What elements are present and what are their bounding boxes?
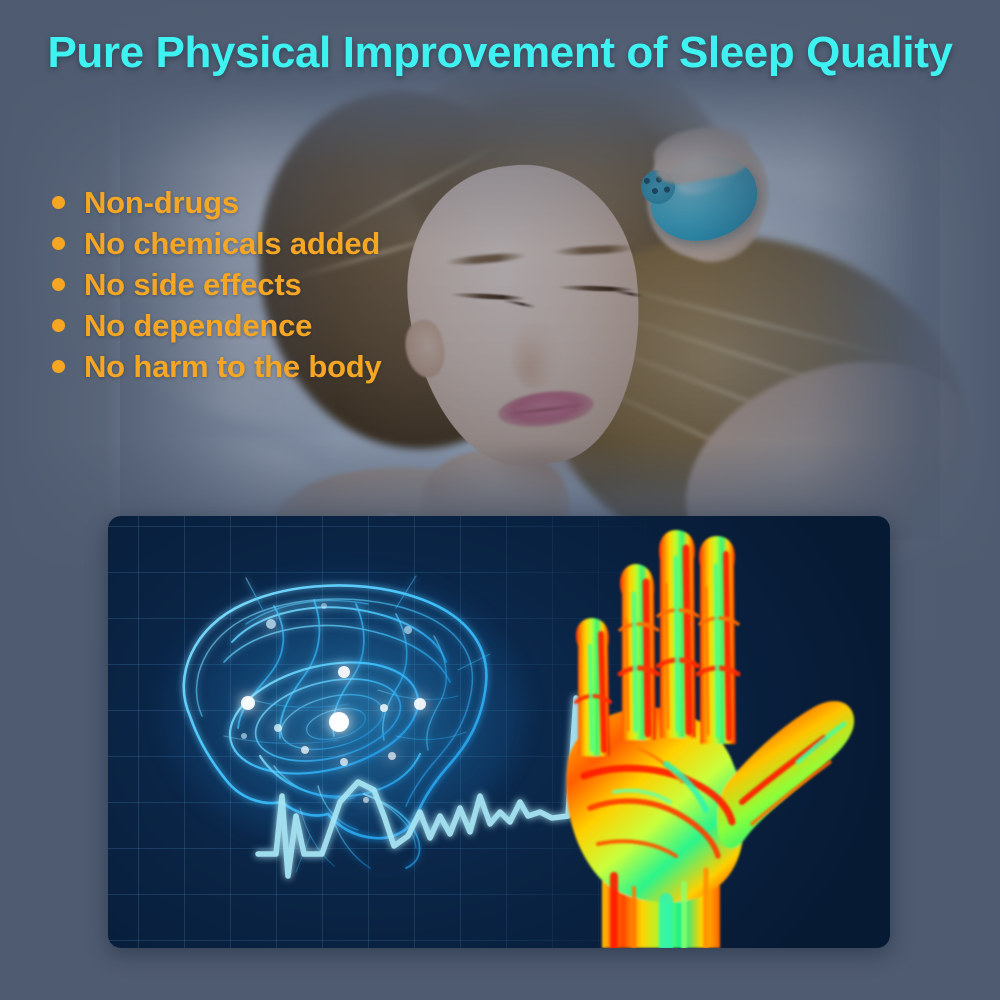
bullet-icon [52,360,65,373]
feature-label: No dependence [84,308,312,344]
list-item: No dependence [52,305,382,346]
feature-list: Non-drugs No chemicals added No side eff… [52,182,382,387]
thermal-hand-illustration [506,524,890,948]
visualization-panel [108,516,890,948]
page-title: Pure Physical Improvement of Sleep Quali… [0,28,1000,78]
feature-label: Non-drugs [84,185,239,221]
list-item: No chemicals added [52,223,382,264]
bullet-icon [52,196,65,209]
feature-label: No side effects [84,267,302,303]
feature-label: No chemicals added [84,226,380,262]
list-item: Non-drugs [52,182,382,223]
bullet-icon [52,319,65,332]
poster-canvas: Pure Physical Improvement of Sleep Quali… [0,0,1000,1000]
thermal-hand-icon [506,524,890,948]
list-item: No side effects [52,264,382,305]
list-item: No harm to the body [52,346,382,387]
feature-label: No harm to the body [84,349,382,385]
bullet-icon [52,237,65,250]
bullet-icon [52,278,65,291]
